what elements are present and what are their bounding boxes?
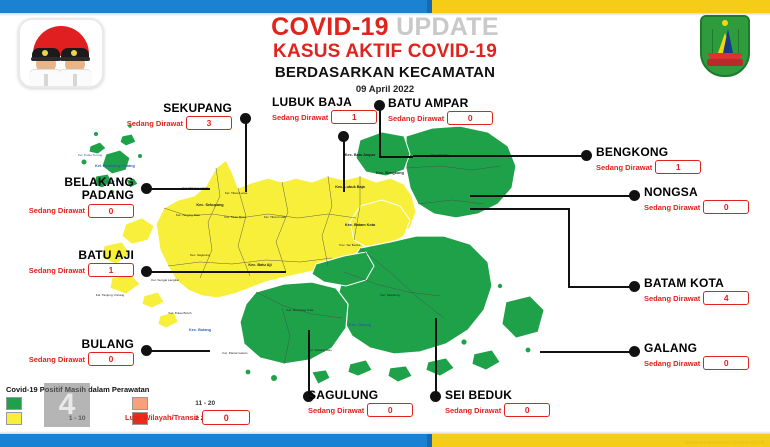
dirawat-label-lubuk-baja: Sedang Dirawat: [272, 113, 328, 122]
transit-summary[interactable]: Luar Wilayah/Transit 0: [125, 410, 250, 425]
leader-line-lubuk-baja: [343, 136, 345, 192]
map-label-9: Kec. Sagulung: [190, 253, 210, 257]
legend-label-1: 11 - 20: [195, 400, 256, 407]
leader-line-batam-kota: [568, 286, 632, 288]
district-name-sagulung: SAGULUNG: [308, 389, 428, 402]
dirawat-label-galang: Sedang Dirawat: [644, 359, 700, 368]
transit-label: Luar Wilayah/Transit: [125, 413, 198, 422]
bottom-bar-blue-segment: [0, 434, 427, 447]
source-watermark: www.mediacenter.batam.go.id: [685, 440, 764, 446]
dirawat-label-bulang: Sedang Dirawat: [29, 355, 85, 364]
map-label-0: Kel. Belakang Padang: [95, 164, 135, 168]
map-label-6: Kel. Tanjung Riau: [176, 213, 200, 217]
value-sagulung: 0: [367, 403, 413, 417]
district-name-bulang: BULANG: [34, 338, 134, 351]
callout-sagulung[interactable]: SAGULUNG Sedang Dirawat 0: [308, 389, 428, 417]
page-title: COVID-19 UPDATE: [0, 14, 770, 40]
leader-line-bulang: [150, 350, 210, 352]
legend-swatch-yellow: [6, 412, 22, 425]
callout-sekupang[interactable]: SEKUPANG Sedang Dirawat 3: [120, 102, 232, 130]
district-name-batu-aji: BATU AJI: [34, 249, 134, 262]
map-legend: Covid-19 Positif Masih dalam Perawatan 0…: [6, 385, 256, 433]
leader-line-nongsa: [470, 195, 630, 197]
title-subtitle-kasus-aktif: KASUS AKTIF COVID-19: [0, 41, 770, 63]
callout-sei-beduk[interactable]: SEI BEDUK Sedang Dirawat 0: [445, 389, 565, 417]
value-sei-beduk: 0: [504, 403, 550, 417]
leader-line-galang: [540, 351, 632, 353]
callout-bengkong[interactable]: BENGKONG Sedang Dirawat 1: [596, 146, 726, 174]
district-name-sei-beduk: SEI BEDUK: [445, 389, 565, 402]
map-label-21: Kel. Rempang Cate: [287, 308, 314, 312]
map-label-3: Kec. Sekupang: [196, 203, 224, 207]
title-update: UPDATE: [396, 13, 499, 41]
leader-line-batu-ampar: [379, 110, 381, 158]
title-subtitle-kecamatan: BERDASARKAN KECAMATAN: [0, 64, 770, 82]
map-label-15: Kec. Batu Ampar: [345, 153, 376, 157]
value-batu-ampar: 0: [447, 111, 493, 125]
map-label-25: Kel. Pantai Gelam: [223, 351, 248, 355]
legend-swatch-orange: [132, 397, 148, 410]
value-sekupang: 3: [186, 116, 232, 130]
map-label-16: Kec. Bengkong: [376, 171, 404, 175]
leader-line-batu-aji: [150, 271, 286, 273]
dirawat-label-bengkong: Sedang Dirawat: [596, 163, 652, 172]
title-covid19: COVID-19: [271, 13, 389, 41]
value-nongsa: 0: [703, 200, 749, 214]
map-label-11: Kel. Sungai Langkai: [151, 278, 179, 282]
district-name-belakang-padang-line1: BELAKANG: [64, 175, 134, 189]
callout-batu-aji[interactable]: BATU AJI Sedang Dirawat 1: [34, 249, 134, 277]
callout-belakang-padang[interactable]: BELAKANG PADANG Sedang Dirawat 0: [22, 176, 134, 218]
callout-bulang[interactable]: BULANG Sedang Dirawat 0: [34, 338, 134, 366]
district-name-nongsa: NONGSA: [644, 186, 764, 199]
district-name-belakang-padang: BELAKANG PADANG: [22, 176, 134, 203]
callout-nongsa[interactable]: NONGSA Sedang Dirawat 0: [644, 186, 764, 214]
value-bengkong: 1: [655, 160, 701, 174]
leader-line-sei-beduk: [435, 318, 437, 392]
transit-value: 0: [202, 410, 250, 425]
value-batu-aji: 1: [88, 263, 134, 277]
marker-dot-nongsa[interactable]: [629, 190, 640, 201]
top-bar-blue-segment: [0, 0, 427, 13]
callout-galang[interactable]: GALANG Sedang Dirawat 0: [644, 342, 764, 370]
leader-line-sekupang: [245, 118, 247, 192]
legend-swatch-green: [6, 397, 22, 410]
value-galang: 0: [703, 356, 749, 370]
district-name-sekupang: SEKUPANG: [120, 102, 232, 115]
leader-elbow-batu-ampar: [379, 156, 413, 158]
map-label-8: Kel. Tiban Indah: [264, 215, 287, 219]
dirawat-label-sagulung: Sedang Dirawat: [308, 406, 364, 415]
map-label-10: Kec. Batu Aji: [248, 263, 271, 267]
value-bulang: 0: [88, 352, 134, 366]
map-svg: Kel. Belakang PadangKel. Sekanak RayaKel…: [60, 96, 620, 416]
district-name-bengkong: BENGKONG: [596, 146, 726, 159]
dirawat-label-belakang-padang: Sedang Dirawat: [29, 206, 85, 215]
top-brand-bar: [0, 0, 770, 13]
top-bar-yellow-segment: [432, 0, 770, 13]
leader-line-bengkong: [413, 155, 583, 157]
map-label-2: Kel. Pulau Terong: [78, 153, 103, 157]
district-name-batam-kota: BATAM KOTA: [644, 277, 770, 290]
leader-elbow-batam-kota: [470, 208, 570, 210]
district-name-galang: GALANG: [644, 342, 764, 355]
dirawat-label-sekupang: Sedang Dirawat: [127, 119, 183, 128]
infographic-poster: COVID-19 UPDATE KASUS AKTIF COVID-19 BER…: [0, 0, 770, 447]
callout-batu-ampar[interactable]: BATU AMPAR Sedang Dirawat 0: [388, 97, 528, 125]
value-lubuk-baja: 1: [331, 110, 377, 124]
callout-batam-kota[interactable]: BATAM KOTA Sedang Dirawat 4: [644, 277, 770, 305]
dirawat-label-batu-ampar: Sedang Dirawat: [388, 114, 444, 123]
dirawat-label-batam-kota: Sedang Dirawat: [644, 294, 700, 303]
report-date: 09 April 2022: [0, 84, 770, 95]
dirawat-label-nongsa: Sedang Dirawat: [644, 203, 700, 212]
value-batam-kota: 4: [703, 291, 749, 305]
map-label-24: Kel. Pulau Buluh: [169, 311, 192, 315]
dirawat-label-sei-beduk: Sedang Dirawat: [445, 406, 501, 415]
bottom-brand-bar: [0, 434, 770, 447]
value-belakang-padang: 0: [88, 204, 134, 218]
map-label-12: Kel. Tanjung Uncang: [96, 293, 125, 297]
map-label-13: Kec. Batam Kota: [345, 223, 376, 227]
leader-vert-batam-kota: [568, 208, 570, 288]
marker-dot-sei-beduk[interactable]: [430, 391, 441, 402]
batam-district-map: Kel. Belakang PadangKel. Sekanak RayaKel…: [60, 96, 620, 416]
map-label-22: Kel. Subang Mas: [308, 348, 332, 352]
map-label-23: Kec. Bulang: [189, 328, 212, 332]
poster-title-block: COVID-19 UPDATE KASUS AKTIF COVID-19 BER…: [0, 14, 770, 95]
map-label-19: Kec. Galang: [349, 323, 372, 327]
dirawat-label-batu-aji: Sedang Dirawat: [29, 266, 85, 275]
district-name-batu-ampar: BATU AMPAR: [388, 97, 528, 110]
map-label-20: Kel. Sijantung: [380, 293, 399, 297]
leader-line-belakang-padang: [150, 188, 210, 190]
map-label-7: Kel. Tiban Baru: [224, 215, 245, 219]
legend-total-overlay: 4: [44, 383, 90, 427]
leader-line-sagulung: [308, 330, 310, 392]
district-name-belakang-padang-line2: PADANG: [82, 188, 134, 202]
map-label-18: Kec. Sei Beduk: [339, 243, 361, 247]
map-label-14: Kec. Lubuk Baja: [335, 185, 365, 189]
